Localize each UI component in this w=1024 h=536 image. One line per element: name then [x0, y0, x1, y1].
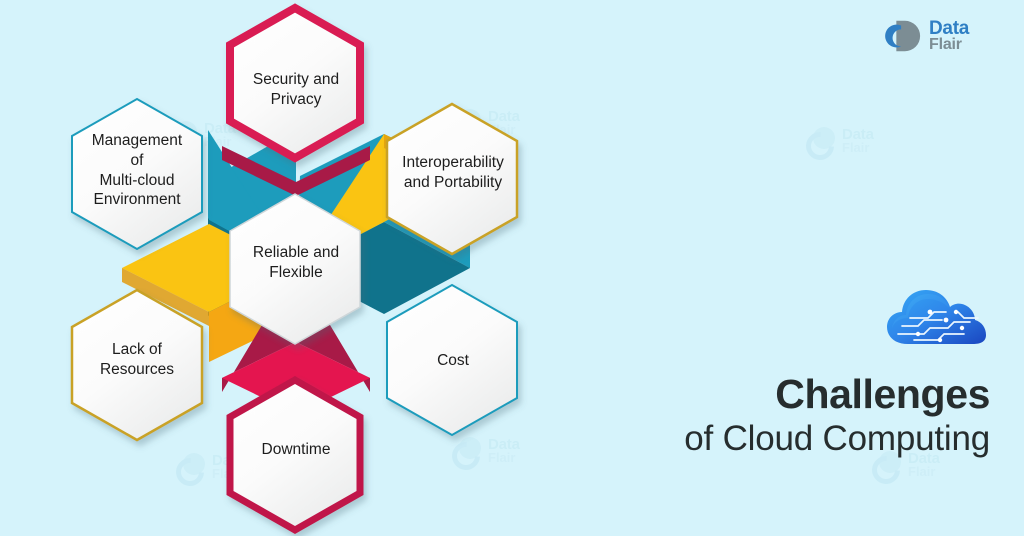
hexagon-security-privacy[interactable] [230, 8, 360, 158]
brand-logo[interactable]: Data Flair [884, 14, 1002, 58]
hexagon-cost[interactable] [387, 285, 517, 435]
page-subtitle: of Cloud Computing [570, 418, 990, 459]
hexagon-interoperability-portability[interactable] [387, 104, 517, 254]
dataflair-d-monogram-icon [884, 17, 922, 55]
hexagon-downtime[interactable] [230, 380, 360, 530]
cloud-circuit-icon [884, 282, 988, 354]
brand-name-secondary: Flair [929, 36, 962, 53]
hexagon-lack-of-resources[interactable] [72, 290, 202, 440]
page-title: Challenges [570, 372, 990, 416]
infographic-canvas: DataFlair DataFlair DataFlair DataFlair … [0, 0, 1024, 536]
title-block: Challenges of Cloud Computing [570, 372, 990, 460]
hexagon-management-multicloud[interactable] [72, 99, 202, 249]
hexagon-reliable-flexible[interactable] [230, 194, 360, 344]
